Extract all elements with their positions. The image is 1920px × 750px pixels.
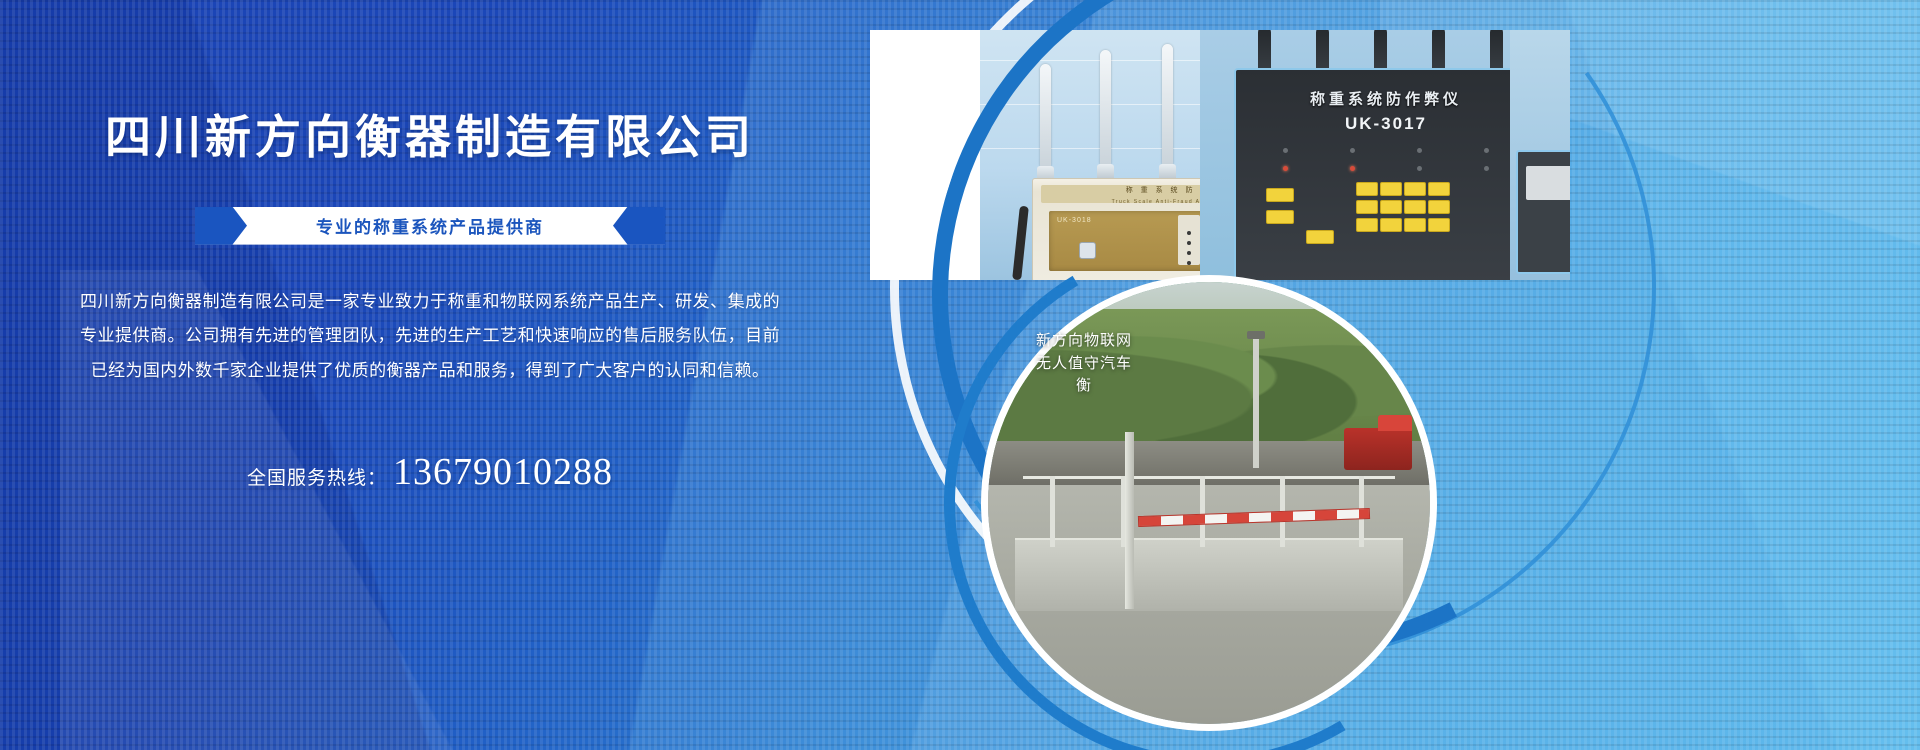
hotline-label: 全国服务热线： bbox=[247, 463, 387, 490]
company-description: 四川新方向衡器制造有限公司是一家专业致力于称重和物联网系统产品生产、研发、集成的… bbox=[80, 285, 780, 390]
page-title: 四川新方向衡器制造有限公司 bbox=[105, 112, 755, 163]
barrier-pole bbox=[1125, 432, 1134, 609]
product-visual: 称 重 系 统 防 作 弊 仪 Truck Scale Anti-Fraud A… bbox=[860, 0, 1920, 750]
hotline-number: 13679010288 bbox=[393, 450, 613, 494]
tagline-ribbon: 专业的称重系统产品提供商 bbox=[195, 207, 665, 245]
tagline-text: 专业的称重系统产品提供商 bbox=[316, 213, 544, 238]
banner-stage: 四川新方向衡器制造有限公司 专业的称重系统产品提供商 四川新方向衡器制造有限公司… bbox=[0, 0, 1920, 750]
hotline: 全国服务热线： 13679010288 bbox=[247, 450, 613, 494]
text-column: 四川新方向衡器制造有限公司 专业的称重系统产品提供商 四川新方向衡器制造有限公司… bbox=[0, 0, 860, 750]
photo-caption: 新方向物联网无人值守汽车衡 bbox=[1032, 330, 1136, 398]
